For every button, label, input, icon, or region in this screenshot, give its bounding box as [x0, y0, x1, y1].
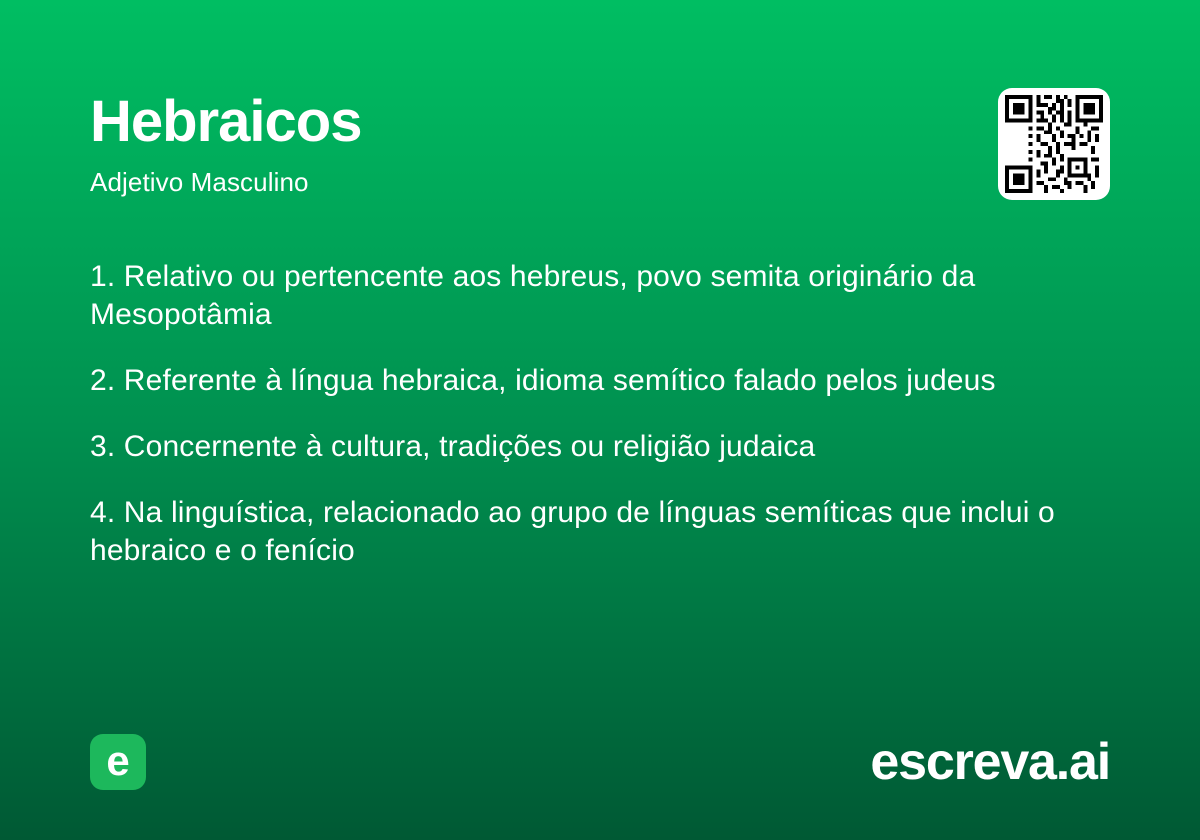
definition-list: 1. Relativo ou pertencente aos hebreus, … [90, 258, 1090, 570]
brand-logo-letter: e [106, 740, 129, 782]
list-item: 3. Concernente à cultura, tradições ou r… [90, 428, 1090, 466]
list-item: 1. Relativo ou pertencente aos hebreus, … [90, 258, 1090, 334]
brand-logo-icon: e [90, 734, 146, 790]
list-item: 4. Na linguística, relacionado ao grupo … [90, 494, 1090, 570]
page-title: Hebraicos [90, 92, 361, 153]
qr-code-icon[interactable] [998, 88, 1110, 200]
card-header: Hebraicos Adjetivo Masculino [90, 88, 1110, 200]
card-footer: e escreva.ai [90, 732, 1110, 792]
brand-wordmark: escreva.ai [870, 732, 1110, 792]
word-heading-group: Hebraicos Adjetivo Masculino [90, 88, 361, 198]
list-item: 2. Referente à língua hebraica, idioma s… [90, 362, 1090, 400]
dictionary-card: Hebraicos Adjetivo Masculino [0, 0, 1200, 840]
word-class-label: Adjetivo Masculino [90, 167, 361, 198]
